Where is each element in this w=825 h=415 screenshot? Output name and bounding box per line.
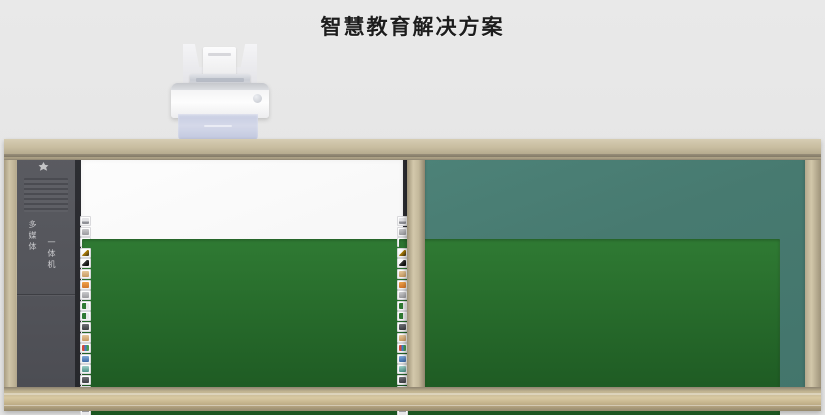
pointer-icon[interactable] <box>80 375 91 385</box>
eraser-icon-glyph <box>399 292 406 298</box>
palette-icon-glyph <box>399 282 406 288</box>
highlighter-green-icon-glyph <box>399 303 406 309</box>
chalkboard-icon[interactable] <box>80 237 91 247</box>
projector-top-band <box>171 83 269 90</box>
folder-icon[interactable] <box>80 333 91 343</box>
screen-share-icon[interactable] <box>80 216 91 226</box>
pointer-icon-glyph <box>82 377 89 383</box>
board-track-seam <box>4 154 821 157</box>
magnifier-icon-glyph <box>399 366 406 372</box>
projector-neck <box>203 47 236 77</box>
screen-share-icon-glyph <box>82 218 89 224</box>
keyboard-icon-glyph <box>399 324 406 330</box>
whiteboard-surface[interactable] <box>81 160 403 391</box>
camera-icon-glyph <box>399 229 406 235</box>
zoom-in-icon-glyph <box>399 356 406 362</box>
ruler-green-icon-glyph <box>399 313 406 319</box>
pen-black-icon-glyph <box>399 260 406 266</box>
screen-share-icon-glyph <box>399 218 406 224</box>
whiteboard-bezel <box>75 154 409 397</box>
screenshot-stage: 智慧教育解决方案 多媒体 一体机 <box>0 0 825 415</box>
folder-icon-glyph <box>82 335 89 341</box>
board-frame-left <box>4 139 16 411</box>
projector[interactable] <box>165 44 275 144</box>
board-assembly: 多媒体 一体机 <box>4 139 821 411</box>
projector-lens-panel <box>178 114 258 140</box>
highlighter-green-icon-glyph <box>82 303 89 309</box>
chalk-tray-sheen <box>4 405 821 406</box>
eraser-icon-glyph <box>82 292 89 298</box>
cabinet-label-secondary: 一体机 <box>47 238 55 271</box>
whiteboard-toolbar-left[interactable] <box>80 216 91 415</box>
zoom-in-icon[interactable] <box>80 354 91 364</box>
page-title: 智慧教育解决方案 <box>0 11 825 41</box>
board-chalk-tray[interactable] <box>4 387 821 411</box>
multimedia-cabinet[interactable]: 多媒体 一体机 <box>17 154 75 397</box>
color-picker-icon[interactable] <box>80 343 91 353</box>
magnifier-icon[interactable] <box>80 364 91 374</box>
color-picker-icon-glyph <box>399 345 406 351</box>
magnifier-icon-glyph <box>82 366 89 372</box>
pen-yellow-icon[interactable] <box>80 248 91 258</box>
speaker-grille-icon <box>24 178 68 212</box>
palette-icon[interactable] <box>80 280 91 290</box>
pen-yellow-icon-glyph <box>399 250 406 256</box>
ruler-green-icon[interactable] <box>80 311 91 321</box>
board-frame-right <box>805 139 821 411</box>
pointer-icon-glyph <box>399 377 406 383</box>
marker-icon[interactable] <box>80 269 91 279</box>
marker-icon-glyph <box>82 271 89 277</box>
projector-body <box>171 83 269 118</box>
highlighter-green-icon[interactable] <box>80 301 91 311</box>
pen-yellow-icon-glyph <box>82 250 89 256</box>
color-picker-icon-glyph <box>82 345 89 351</box>
palette-icon-glyph <box>82 282 89 288</box>
marker-icon-glyph <box>399 271 406 277</box>
pen-black-icon-glyph <box>82 260 89 266</box>
projector-indicator-icon <box>253 94 262 103</box>
camera-icon[interactable] <box>80 227 91 237</box>
keyboard-icon-glyph <box>82 324 89 330</box>
ruler-green-icon-glyph <box>82 313 89 319</box>
camera-icon-glyph <box>82 229 89 235</box>
cabinet-label-primary: 多媒体 <box>28 220 36 253</box>
sliding-panel-divider[interactable] <box>407 153 425 397</box>
cabinet-panel-split <box>17 294 75 296</box>
zoom-in-icon-glyph <box>82 356 89 362</box>
pen-black-icon[interactable] <box>80 258 91 268</box>
board-top-rail <box>4 139 821 160</box>
brand-emblem-icon <box>37 162 50 173</box>
eraser-icon[interactable] <box>80 290 91 300</box>
folder-icon-glyph <box>399 335 406 341</box>
cabinet-labels: 多媒体 一体机 <box>17 220 75 330</box>
keyboard-icon[interactable] <box>80 322 91 332</box>
